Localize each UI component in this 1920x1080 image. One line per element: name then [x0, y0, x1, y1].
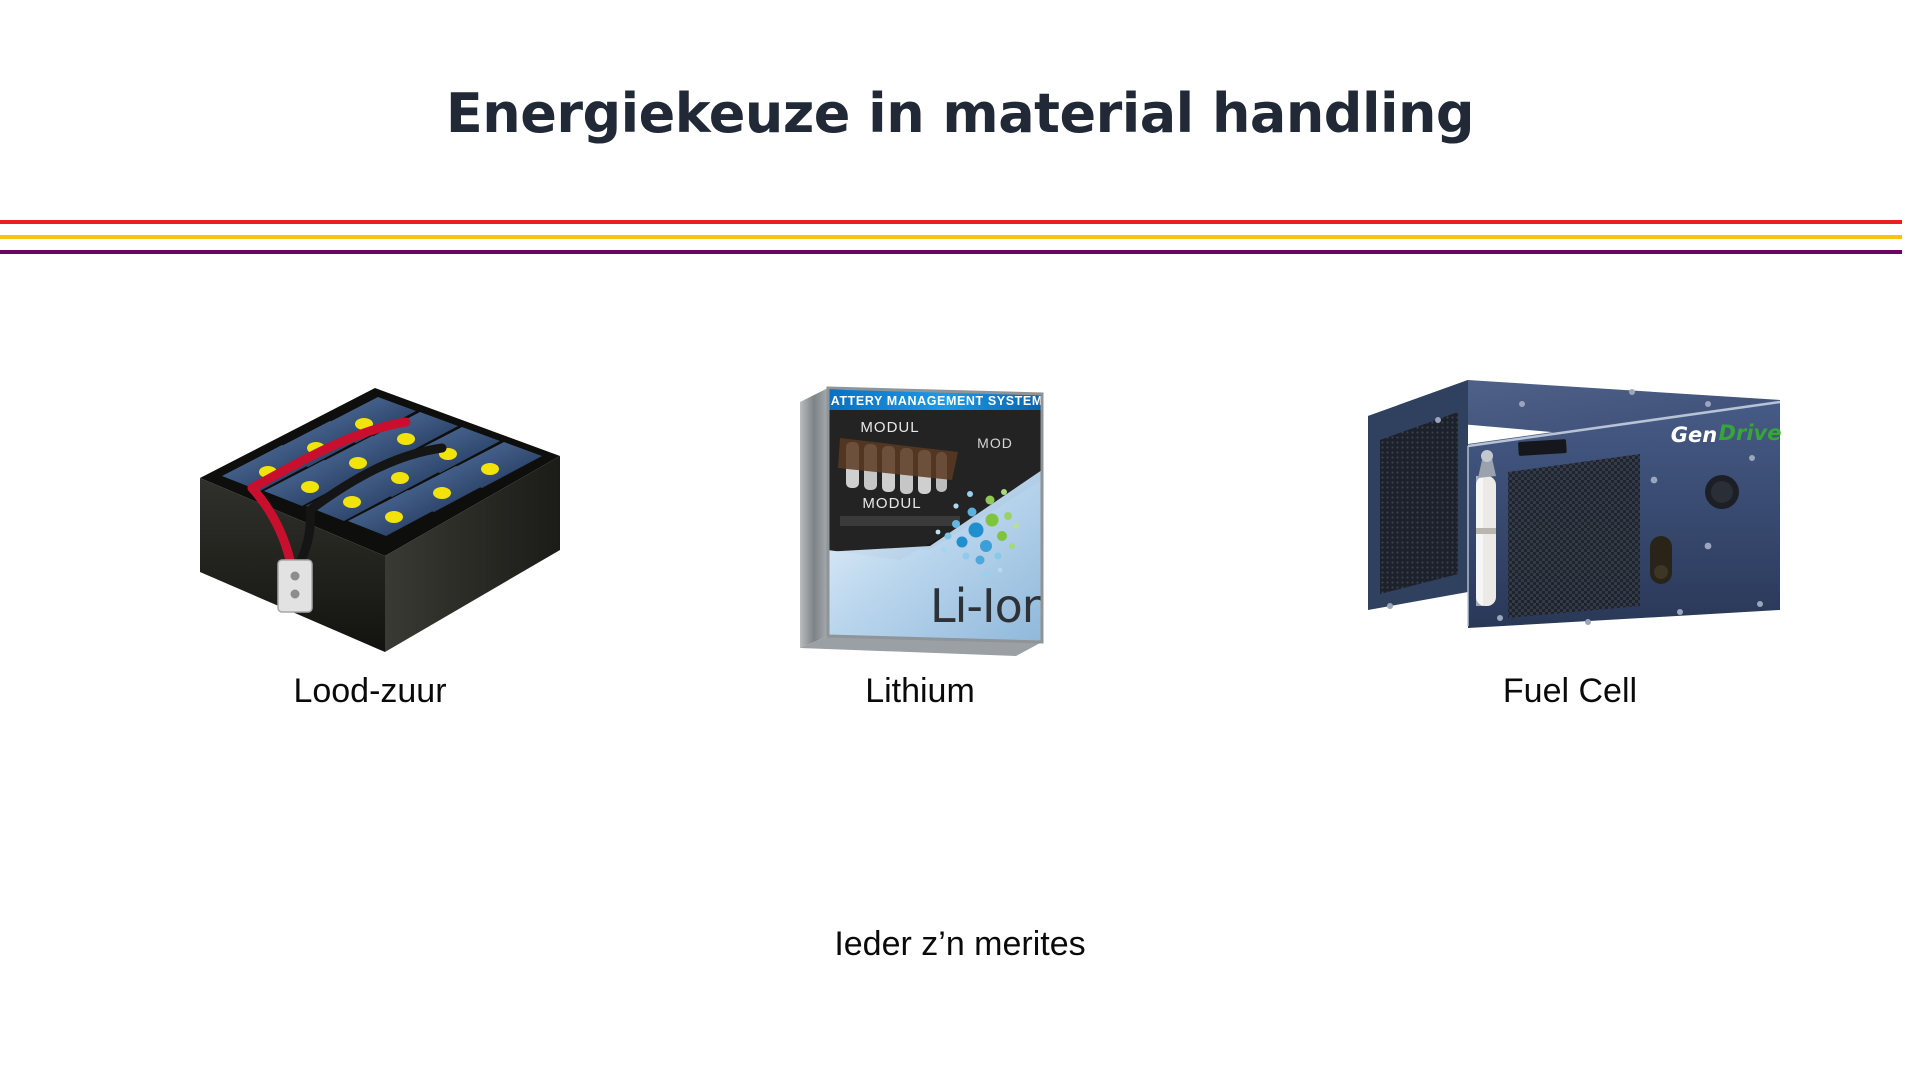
module-label-2: MOD: [977, 435, 1013, 451]
option-lithium: BATTERY MANAGEMENT SYSTEM MODUL MOD MODU…: [710, 360, 1130, 711]
option-lead-acid: Lood-zuur: [110, 360, 630, 711]
energy-options-row: Lood-zuur: [0, 360, 1920, 780]
bms-header-text: BATTERY MANAGEMENT SYSTEM: [821, 394, 1043, 408]
divider-rules: [0, 220, 1902, 260]
divider-red-line: [0, 220, 1902, 224]
divider-purple-line: [0, 250, 1902, 254]
gendrive-logo-gen: Gen: [1671, 423, 1717, 447]
caption-lead-acid: Lood-zuur: [110, 672, 630, 711]
module-label-3: MODUL: [862, 495, 921, 512]
gendrive-logo: Gen Drive: [1671, 421, 1782, 447]
caption-lithium: Lithium: [710, 672, 1130, 711]
lithium-battery-image: BATTERY MANAGEMENT SYSTEM MODUL MOD MODU…: [780, 360, 1060, 660]
fuel-cell-image: Gen Drive: [1350, 360, 1790, 660]
module-label-1: MODUL: [860, 419, 919, 436]
lead-acid-battery-image: [160, 360, 580, 660]
divider-yellow-line: [0, 235, 1902, 239]
page-title: Energiekeuze in material handling: [0, 84, 1920, 143]
li-ion-brand-text: Li-Ion: [930, 579, 1050, 633]
footer-note: Ieder z’n merites: [0, 925, 1920, 964]
gendrive-logo-drive: Drive: [1719, 421, 1782, 445]
caption-fuel-cell: Fuel Cell: [1290, 672, 1850, 711]
option-fuel-cell: Gen Drive Fuel Cell: [1290, 360, 1850, 711]
